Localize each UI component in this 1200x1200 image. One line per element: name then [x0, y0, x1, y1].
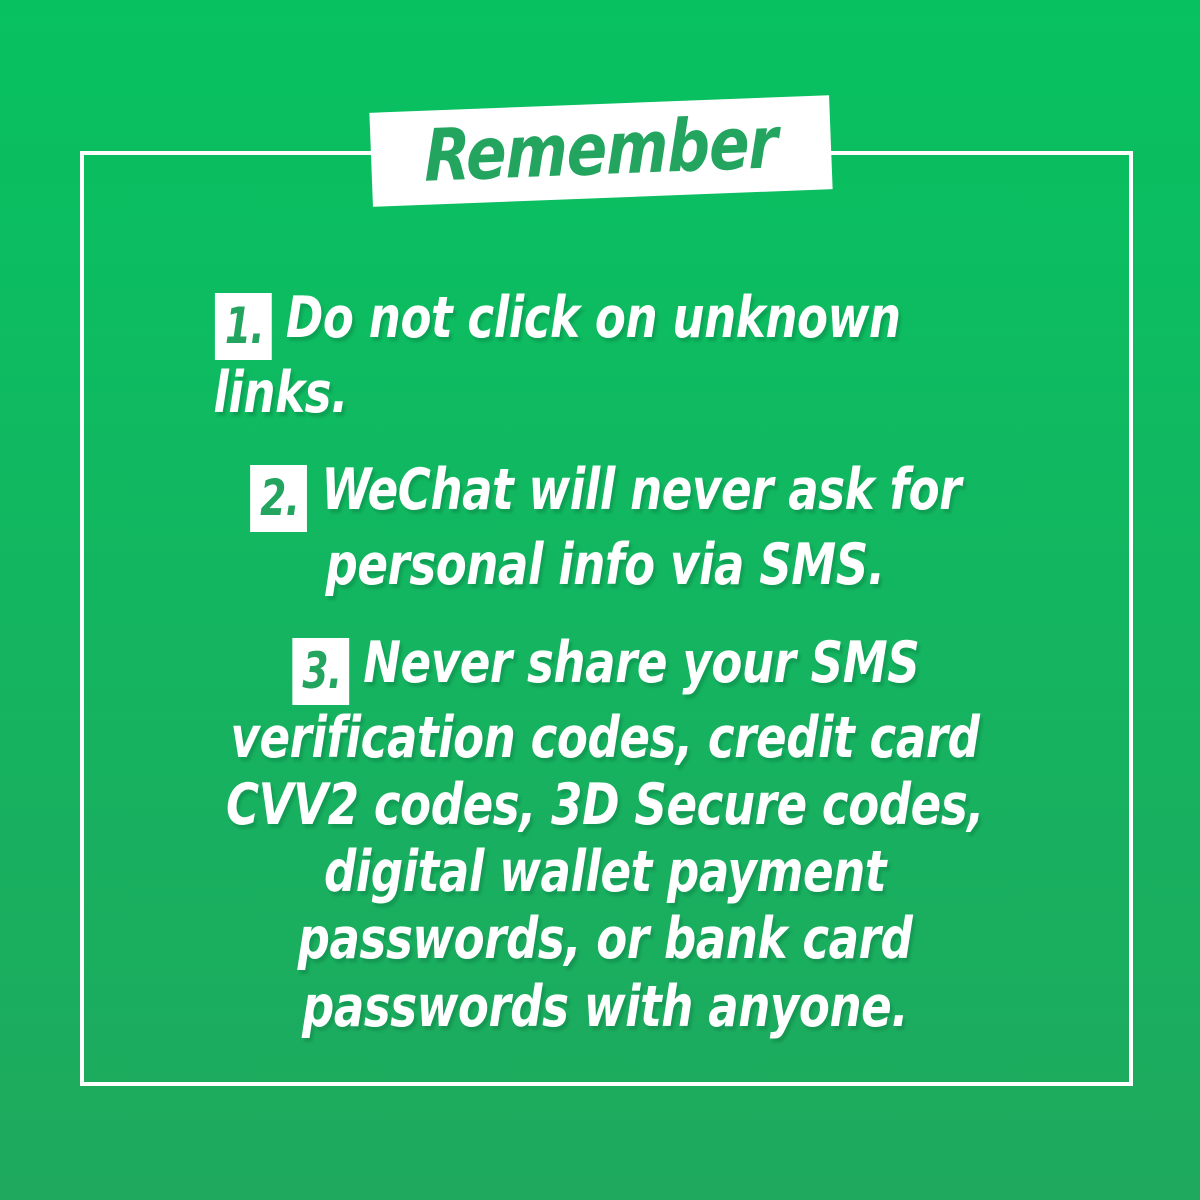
list-item-text: 1.Do not click on unknown links. [161, 285, 1050, 427]
list-item-line: 1.Do not click on unknown links. [213, 285, 1049, 427]
list-item-line: 3.Never share your SMS [161, 630, 1050, 705]
list-item-line-text: WeChat will never ask for [321, 457, 961, 523]
list-item-line: 2.WeChat will never ask for [161, 457, 1050, 532]
list-item-line-text: CVV2 codes, 3D Secure codes, [161, 772, 1050, 839]
list-item-text: 3.Never share your SMS verification code… [161, 630, 1050, 1041]
list-item-line-text: Never share your SMS [363, 630, 919, 696]
list-item-number: 1. [215, 293, 272, 360]
list-item-number: 2. [250, 465, 307, 532]
list-item-line-text: digital wallet payment [161, 839, 1050, 906]
list-item-text: 2.WeChat will never ask for personal inf… [161, 457, 1050, 599]
list-item-number: 3. [292, 638, 349, 705]
title-banner: Remember [369, 95, 832, 207]
list-item: 1.Do not click on unknown links. [100, 285, 1110, 427]
list-item-line-text: passwords with anyone. [161, 974, 1050, 1041]
tips-list: 1.Do not click on unknown links. 2.WeCha… [100, 285, 1110, 1071]
list-item-line-text: personal info via SMS. [161, 532, 1050, 599]
poster-canvas: Remember 1.Do not click on unknown links… [0, 0, 1200, 1200]
page-title: Remember [424, 106, 777, 196]
list-item-line-text: verification codes, credit card [161, 705, 1050, 772]
list-item: 2.WeChat will never ask for personal inf… [100, 457, 1110, 599]
list-item-line-text: Do not click on unknown links. [213, 285, 900, 426]
list-item-line-text: passwords, or bank card [161, 906, 1050, 973]
list-item: 3.Never share your SMS verification code… [100, 630, 1110, 1041]
